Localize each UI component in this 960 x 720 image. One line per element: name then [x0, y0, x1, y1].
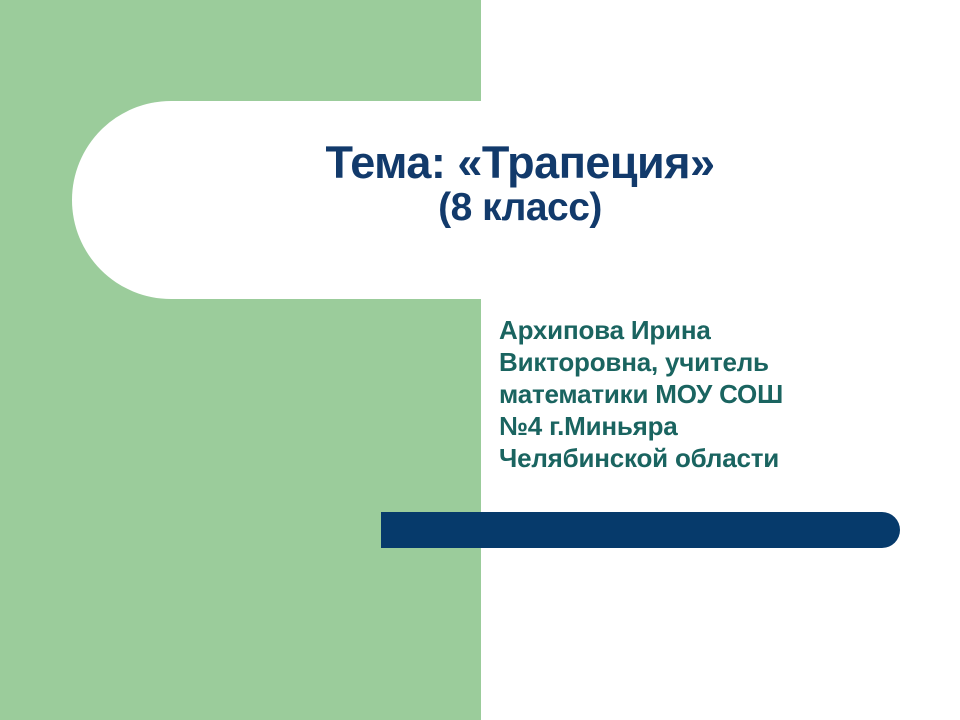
author-credit-block: Архипова Ирина Викторовна, учитель матем…: [499, 314, 899, 474]
title-line-primary: Тема: «Трапеция»: [180, 140, 860, 186]
slide-title: Тема: «Трапеция» (8 класс): [180, 140, 860, 228]
author-credit-line-3: математики МОУ СОШ: [499, 378, 899, 410]
bottom-accent-bar: [381, 512, 900, 548]
author-credit-line-4: №4 г.Миньяра: [499, 410, 899, 442]
title-line-secondary: (8 класс): [180, 188, 860, 228]
author-credit-line-2: Викторовна, учитель: [499, 346, 899, 378]
author-credit-line-5: Челябинской области: [499, 442, 899, 474]
presentation-slide: Тема: «Трапеция» (8 класс) Архипова Ирин…: [0, 0, 960, 720]
author-credit-line-1: Архипова Ирина: [499, 314, 899, 346]
